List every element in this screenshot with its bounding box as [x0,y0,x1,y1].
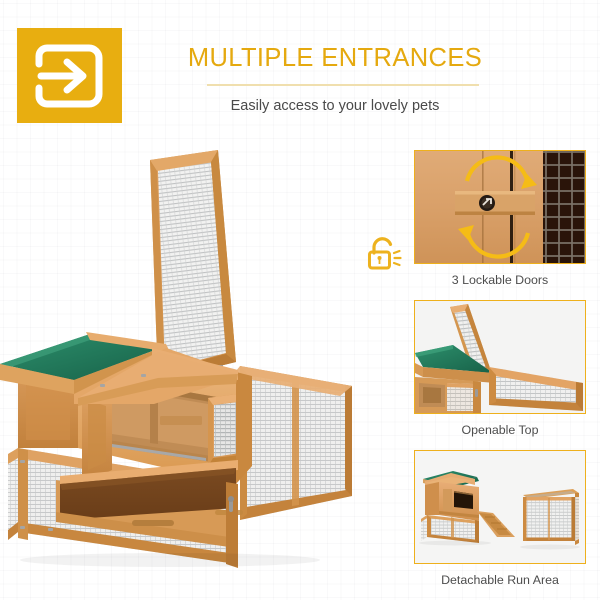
feature-panel-openable-top: Openable Top [414,300,586,437]
panel-caption: Openable Top [414,423,586,437]
feature-panel-lockable-doors: 3 Lockable Doors [414,150,586,287]
panel-caption: 3 Lockable Doors [414,273,586,287]
enter-arrow-icon [33,42,105,110]
header-icon-badge [17,28,122,123]
rabbit-hutch-main-photo [0,148,365,568]
infographic-page: MULTIPLE ENTRANCES Easily access to your… [0,0,600,600]
door-latch-rotation-photo [414,150,586,264]
openable-top-photo [414,300,586,414]
panel-caption: Detachable Run Area [414,573,586,587]
page-subtitle: Easily access to your lovely pets [185,98,485,114]
title-divider [207,84,479,86]
open-padlock-icon [363,233,405,279]
feature-panel-detachable-run: Detachable Run Area [414,450,586,587]
detachable-run-photo [414,450,586,564]
page-title: MULTIPLE ENTRANCES [185,44,485,73]
